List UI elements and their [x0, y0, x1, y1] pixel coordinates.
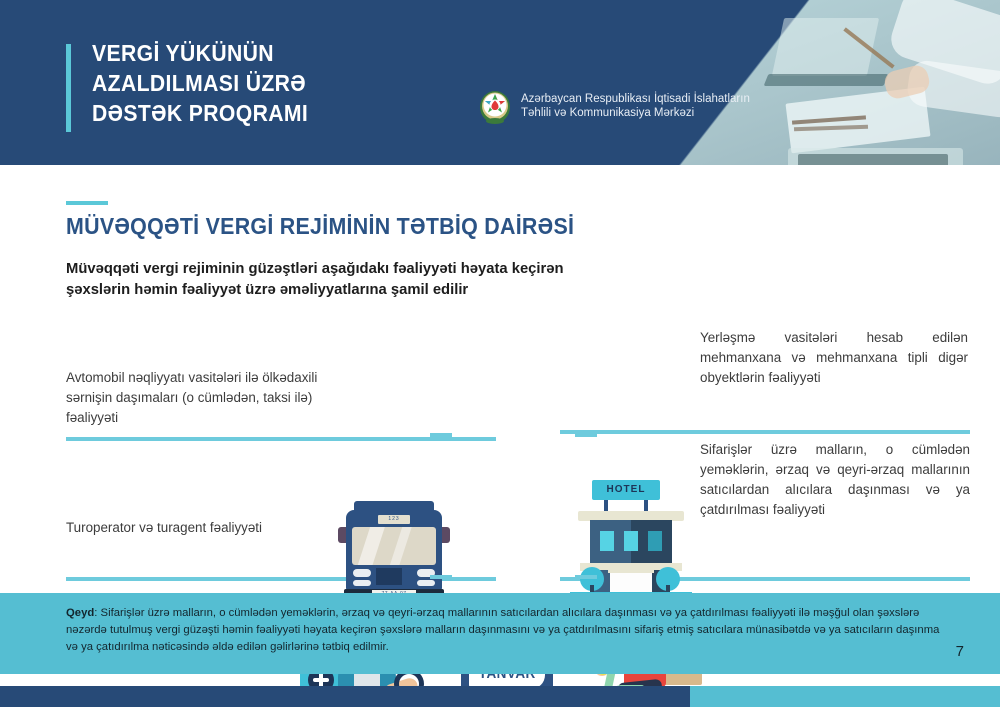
hotel-window-2 [624, 531, 638, 551]
quadrant-top-right-text: Yerləşmə vasitələri hesab edilən mehmanx… [700, 328, 968, 388]
photo-keyboard [798, 154, 948, 165]
section-subtitle: Müvəqqəti vergi rejiminin güzəştləri aşa… [66, 259, 756, 301]
bus-foglight-left [353, 580, 371, 586]
footnote-body: : Sifarişlər üzrə malların, o cümlədən y… [66, 607, 939, 653]
photo-laptop-back-base [764, 74, 889, 86]
section-subtitle-line-2: şəxslərin həmin fəaliyyət üzrə əməliyyat… [66, 280, 756, 301]
header-title: VERGİ YÜKÜNÜN AZALDILMASI ÜZRƏ DƏSTƏK PR… [92, 38, 478, 128]
bus-foglight-right [417, 580, 435, 586]
hotel-window-3 [648, 531, 662, 551]
bus-route-sign: 123 [378, 515, 410, 524]
header-photo [670, 0, 1000, 165]
quadrant-bottom-left-text: Turoperator və turagent fəaliyyəti [66, 518, 346, 538]
bus-grille [376, 568, 402, 585]
hotel-icon: HOTEL [570, 475, 692, 590]
footnote-band: Qeyd: Sifarişlər üzrə malların, o cümləd… [0, 593, 1000, 674]
slide-header: VERGİ YÜKÜNÜN AZALDILMASI ÜZRƏ DƏSTƏK PR… [0, 0, 1000, 165]
slide-root: VERGİ YÜKÜNÜN AZALDILMASI ÜZRƏ DƏSTƏK PR… [0, 0, 1000, 707]
divider-top-right [560, 430, 970, 434]
bottom-bar [0, 686, 1000, 707]
calendar-tick-top-right [575, 433, 597, 437]
header-title-line-3: DƏSTƏK PROQRAMI [92, 98, 478, 128]
hotel-entrance [610, 571, 652, 593]
hotel-window-1 [600, 531, 614, 551]
header-accent-bar [66, 44, 71, 132]
azerbaijan-state-emblem-icon [478, 88, 512, 124]
section-title: MÜVƏQQƏTİ VERGİ REJİMİNİN TƏTBİQ DAİRƏSİ [66, 213, 574, 240]
bus-headlight-left [353, 569, 371, 577]
organization-block: Azərbaycan Respublikası İqtisadi İslahat… [478, 88, 750, 124]
header-title-line-2: AZALDILMASI ÜZRƏ [92, 68, 478, 98]
bus-windshield [352, 527, 436, 565]
divider-top-left [66, 437, 496, 441]
page-number: 7 [956, 643, 964, 660]
hotel-sign: HOTEL [592, 480, 660, 500]
quadrant-top-left-text: Avtomobil nəqliyyatı vasitələri ilə ölkə… [66, 368, 356, 428]
calendar-tick-top-left [430, 433, 452, 437]
slide-body: MÜVƏQQƏTİ VERGİ REJİMİNİN TƏTBİQ DAİRƏSİ… [0, 165, 1000, 593]
organization-name-line-1: Azərbaycan Respublikası İqtisadi İslahat… [521, 92, 750, 106]
section-accent-bar [66, 201, 108, 205]
bottom-bar-navy [0, 686, 690, 707]
calendar-tick-bottom-left [430, 575, 452, 579]
photo-laptop-back [772, 18, 879, 76]
footnote-label: Qeyd [66, 607, 94, 619]
hotel-entrance-canopy [608, 567, 654, 573]
organization-name-line-2: Təhlili və Kommunikasiya Mərkəzi [521, 106, 750, 120]
bus-icon: 123 77-AA-07 [338, 497, 450, 607]
calendar-tick-bottom-right [575, 575, 597, 579]
bottom-bar-teal [690, 686, 1000, 707]
footnote-text: Qeyd: Sifarişlər üzrə malların, o cümləd… [66, 605, 946, 656]
section-subtitle-line-1: Müvəqqəti vergi rejiminin güzəştləri aşa… [66, 259, 756, 280]
quadrant-bottom-right-text: Sifarişlər üzrə malların, o cümlədən yem… [700, 440, 970, 520]
header-title-line-1: VERGİ YÜKÜNÜN [92, 38, 478, 68]
organization-name: Azərbaycan Respublikası İqtisadi İslahat… [521, 92, 750, 120]
